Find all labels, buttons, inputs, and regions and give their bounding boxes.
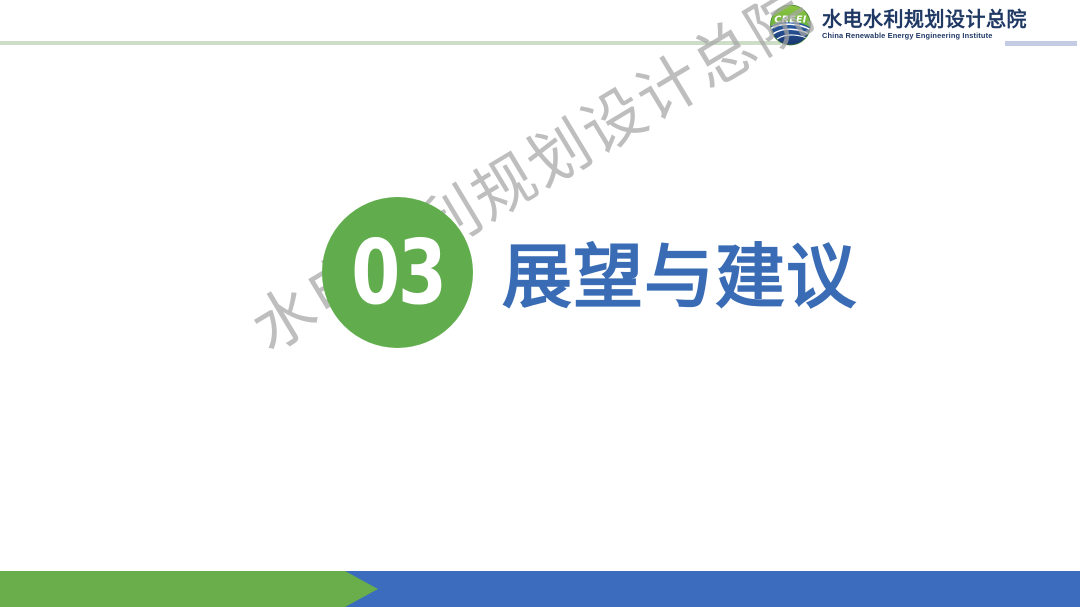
section-number-badge: 03 (322, 197, 473, 348)
section-number-label: 03 (351, 228, 444, 317)
svg-text:CREEI: CREEI (774, 15, 806, 26)
section-title-text: 展望与建议 (502, 242, 857, 312)
slide-header: CREEI 水电水利规划设计总院 China Renewable Energy … (0, 0, 1080, 60)
brand-lockup: CREEI 水电水利规划设计总院 China Renewable Energy … (766, 4, 1027, 46)
section-heading-group: 03 展望与建议 (322, 197, 857, 348)
creei-circular-logo-icon: CREEI (766, 4, 815, 46)
brand-text-block: 水电水利规划设计总院 China Renewable Energy Engine… (822, 10, 1027, 39)
header-divider-green (0, 41, 781, 45)
organization-name-en: China Renewable Energy Engineering Insti… (822, 32, 1027, 39)
slide-canvas: CREEI 水电水利规划设计总院 China Renewable Energy … (0, 0, 1080, 607)
organization-name-cn: 水电水利规划设计总院 (822, 10, 1027, 30)
slide-footer-band (0, 571, 1080, 607)
footer-green-chevron (0, 571, 378, 607)
